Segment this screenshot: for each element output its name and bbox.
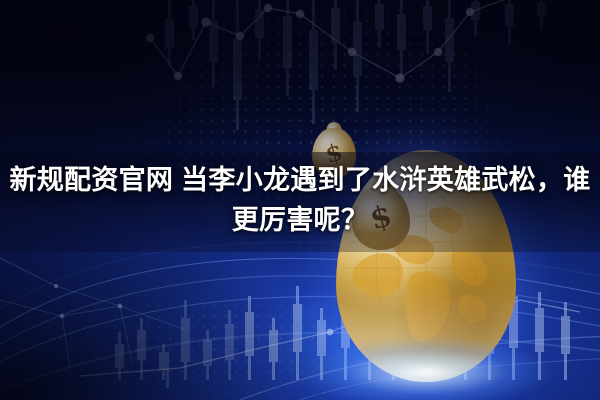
page-title: 新规配资官网 当李小龙遇到了水浒英雄武松，谁更厉害呢？ <box>0 160 600 240</box>
banner-image: $ $ 新规配资官网 当李小龙遇到了水浒英雄武松，谁更厉害呢？ <box>0 0 600 400</box>
